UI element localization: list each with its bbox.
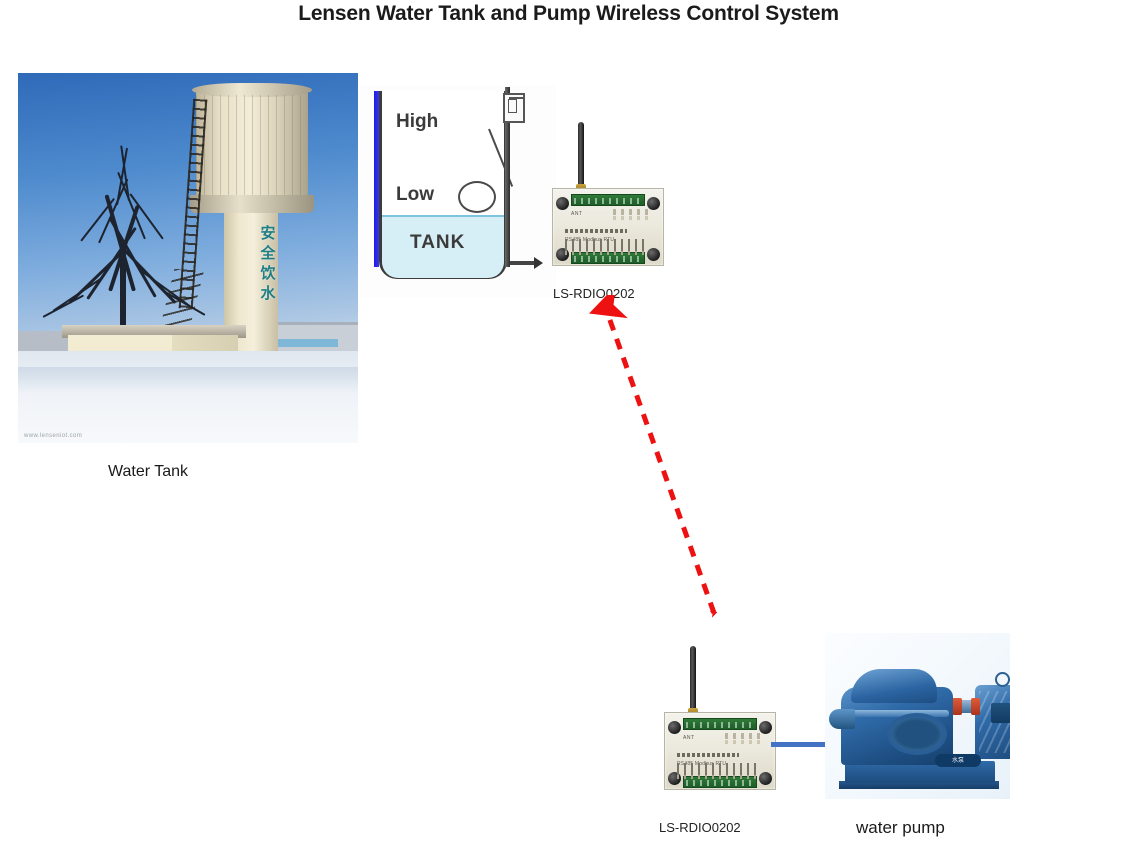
module-body: ANT RS485 Modbus RTU [664, 712, 776, 790]
dip-switch-row[interactable] [677, 763, 757, 775]
pump-coupling [952, 698, 962, 715]
terminal-block-top [683, 718, 757, 730]
dip-switch-row[interactable] [565, 239, 645, 251]
dip-switch-labels [565, 251, 647, 255]
water-pump-photo: 水泵 [825, 633, 1010, 799]
label-module-top: LS-RDIO0202 [553, 286, 635, 301]
module-ant-text: ANT [683, 735, 695, 741]
motor-terminal-box [991, 703, 1010, 723]
water-tank-photo: 安全饮水 www.lenseniot.com [18, 73, 358, 443]
caption-water-pump: water pump [856, 818, 945, 838]
tank-diagram-tank-label: TANK [410, 232, 465, 254]
label-module-bottom: LS-RDIO0202 [659, 820, 741, 835]
pump-casing-top [851, 669, 937, 703]
level-sensor-bracket [509, 97, 523, 99]
status-led-row [725, 733, 761, 739]
status-led-labels [725, 740, 761, 744]
mount-hole-icon [556, 197, 569, 210]
module-terminal-legend [677, 753, 739, 757]
mount-hole-icon [647, 248, 660, 261]
page-title: Lensen Water Tank and Pump Wireless Cont… [0, 2, 1137, 26]
tank-level-diagram: High Low TANK [360, 85, 556, 297]
water-tower-tank [196, 89, 308, 205]
diagram-canvas: Lensen Water Tank and Pump Wireless Cont… [0, 0, 1137, 857]
module-top-ls-rdio0202[interactable]: ANT RS485 Modbus RTU [552, 184, 664, 270]
dip-switch-labels [677, 775, 759, 779]
wired-link-to-pump [771, 742, 830, 747]
pump-coupling-2 [971, 698, 980, 715]
status-led-labels [613, 216, 649, 220]
snow-ground [18, 351, 358, 443]
mount-hole-icon [668, 721, 681, 734]
status-led-row [613, 209, 649, 215]
module-body: ANT RS485 Modbus RTU [552, 188, 664, 266]
module-terminal-legend [565, 229, 627, 233]
photo-credit: www.lenseniot.com [24, 433, 82, 439]
caption-water-tank: Water Tank [108, 463, 188, 481]
wireless-link-arrow [575, 295, 755, 625]
tank-signal-arrow-icon [534, 257, 543, 269]
motor-lifting-eye [995, 672, 1010, 687]
antenna-icon [578, 122, 584, 188]
tank-level-low-label: Low [396, 184, 434, 206]
module-bottom-ls-rdio0202[interactable]: ANT RS485 Modbus RTU [664, 708, 776, 794]
terminal-block-top [571, 194, 645, 206]
module-ant-text: ANT [571, 211, 583, 217]
mount-hole-icon [759, 772, 772, 785]
antenna-icon [690, 646, 696, 712]
tank-signal-line [510, 261, 536, 265]
float-switch-ball [458, 181, 496, 213]
tank-level-high-label: High [396, 111, 438, 133]
pump-nameplate: 水泵 [935, 754, 981, 767]
tower-chinese-text: 安全饮水 [258, 223, 278, 303]
pump-discharge-flange [887, 713, 947, 755]
pump-suction-port [829, 709, 855, 729]
